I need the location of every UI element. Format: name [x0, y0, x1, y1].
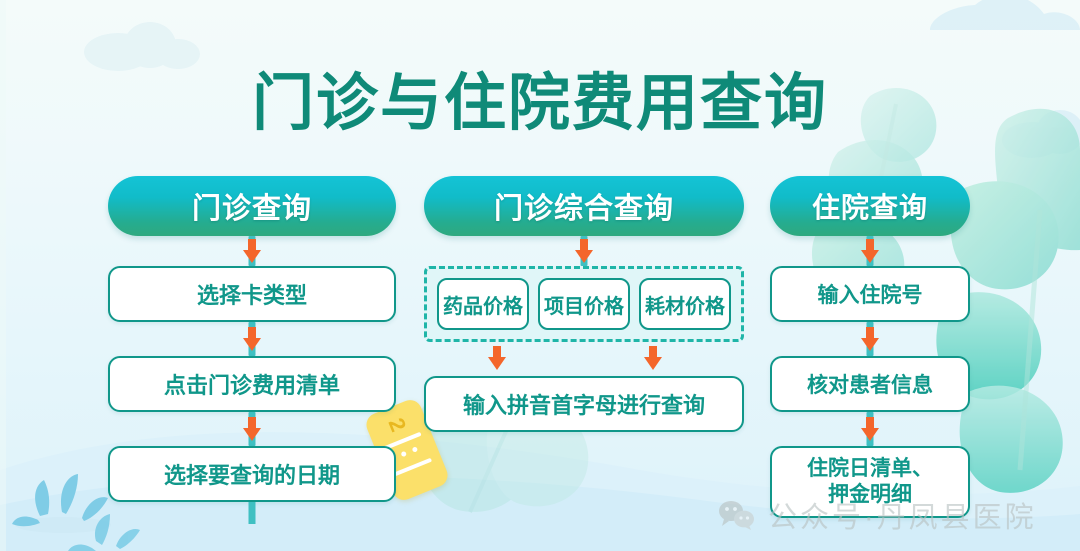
column-header-label: 门诊综合查询 — [494, 185, 674, 227]
down-arrow-icon — [243, 417, 261, 441]
down-arrow-icon — [243, 239, 261, 263]
connector — [770, 412, 970, 446]
down-arrow-icon — [488, 346, 506, 370]
price-category-label: 药品价格 — [443, 290, 523, 319]
connector — [770, 236, 970, 266]
page-title: 门诊与住院费用查询 — [0, 52, 1080, 142]
connector — [770, 322, 970, 356]
step-label: 选择要查询的日期 — [164, 458, 340, 490]
price-category-group: 药品价格 项目价格 耗材价格 — [424, 266, 744, 342]
slide-canvas: 门诊与住院费用查询 门诊查询 选择卡类型 — [0, 0, 1080, 551]
column-header-label: 门诊查询 — [192, 185, 312, 227]
column-header-inpatient-query[interactable]: 住院查询 — [770, 176, 970, 236]
flowchart: 门诊查询 选择卡类型 点击门诊费用清单 — [0, 176, 1080, 516]
watermark-text: 公众号·丹凤县医院 — [768, 494, 1037, 536]
step-box[interactable]: 输入住院号 — [770, 266, 970, 322]
price-category-box[interactable]: 项目价格 — [538, 278, 630, 330]
step-label: 点击门诊费用清单 — [164, 368, 340, 400]
step-label: 选择卡类型 — [197, 278, 307, 310]
column-outpatient-comprehensive-query: 门诊综合查询 药品价格 项目价格 耗材价格 — [424, 176, 744, 432]
price-category-box[interactable]: 耗材价格 — [639, 278, 731, 330]
connector — [424, 236, 744, 266]
connector — [108, 236, 396, 266]
down-arrow-icon — [243, 327, 261, 351]
wechat-icon — [718, 500, 756, 530]
step-box[interactable]: 输入拼音首字母进行查询 — [424, 376, 744, 432]
watermark: 公众号·丹凤县医院 — [718, 494, 1037, 536]
price-category-label: 项目价格 — [544, 290, 624, 319]
step-label: 核对患者信息 — [807, 369, 933, 399]
down-arrow-icon — [575, 239, 593, 263]
step-label: 输入拼音首字母进行查询 — [463, 388, 705, 420]
column-inpatient-query: 住院查询 输入住院号 核对患者信息 — [770, 176, 970, 518]
column-outpatient-query: 门诊查询 选择卡类型 点击门诊费用清单 — [108, 176, 396, 524]
connector — [108, 412, 396, 446]
step-box[interactable]: 核对患者信息 — [770, 356, 970, 412]
column-header-label: 住院查询 — [812, 186, 928, 226]
step-box[interactable]: 选择卡类型 — [108, 266, 396, 322]
down-arrow-icon — [861, 417, 879, 441]
price-category-label: 耗材价格 — [645, 290, 725, 319]
step-label: 输入住院号 — [818, 279, 923, 309]
down-arrow-icon — [861, 327, 879, 351]
column-header-outpatient-query[interactable]: 门诊查询 — [108, 176, 396, 236]
connector — [108, 322, 396, 356]
column-header-outpatient-comprehensive-query[interactable]: 门诊综合查询 — [424, 176, 744, 236]
down-arrow-icon — [644, 346, 662, 370]
step-label-line-1: 住院日清单、 — [807, 456, 933, 482]
price-category-box[interactable]: 药品价格 — [437, 278, 529, 330]
down-arrow-icon — [861, 239, 879, 263]
step-box[interactable]: 选择要查询的日期 — [108, 446, 396, 502]
connector-pair — [424, 342, 744, 376]
step-box[interactable]: 点击门诊费用清单 — [108, 356, 396, 412]
connector-stub — [108, 502, 396, 524]
